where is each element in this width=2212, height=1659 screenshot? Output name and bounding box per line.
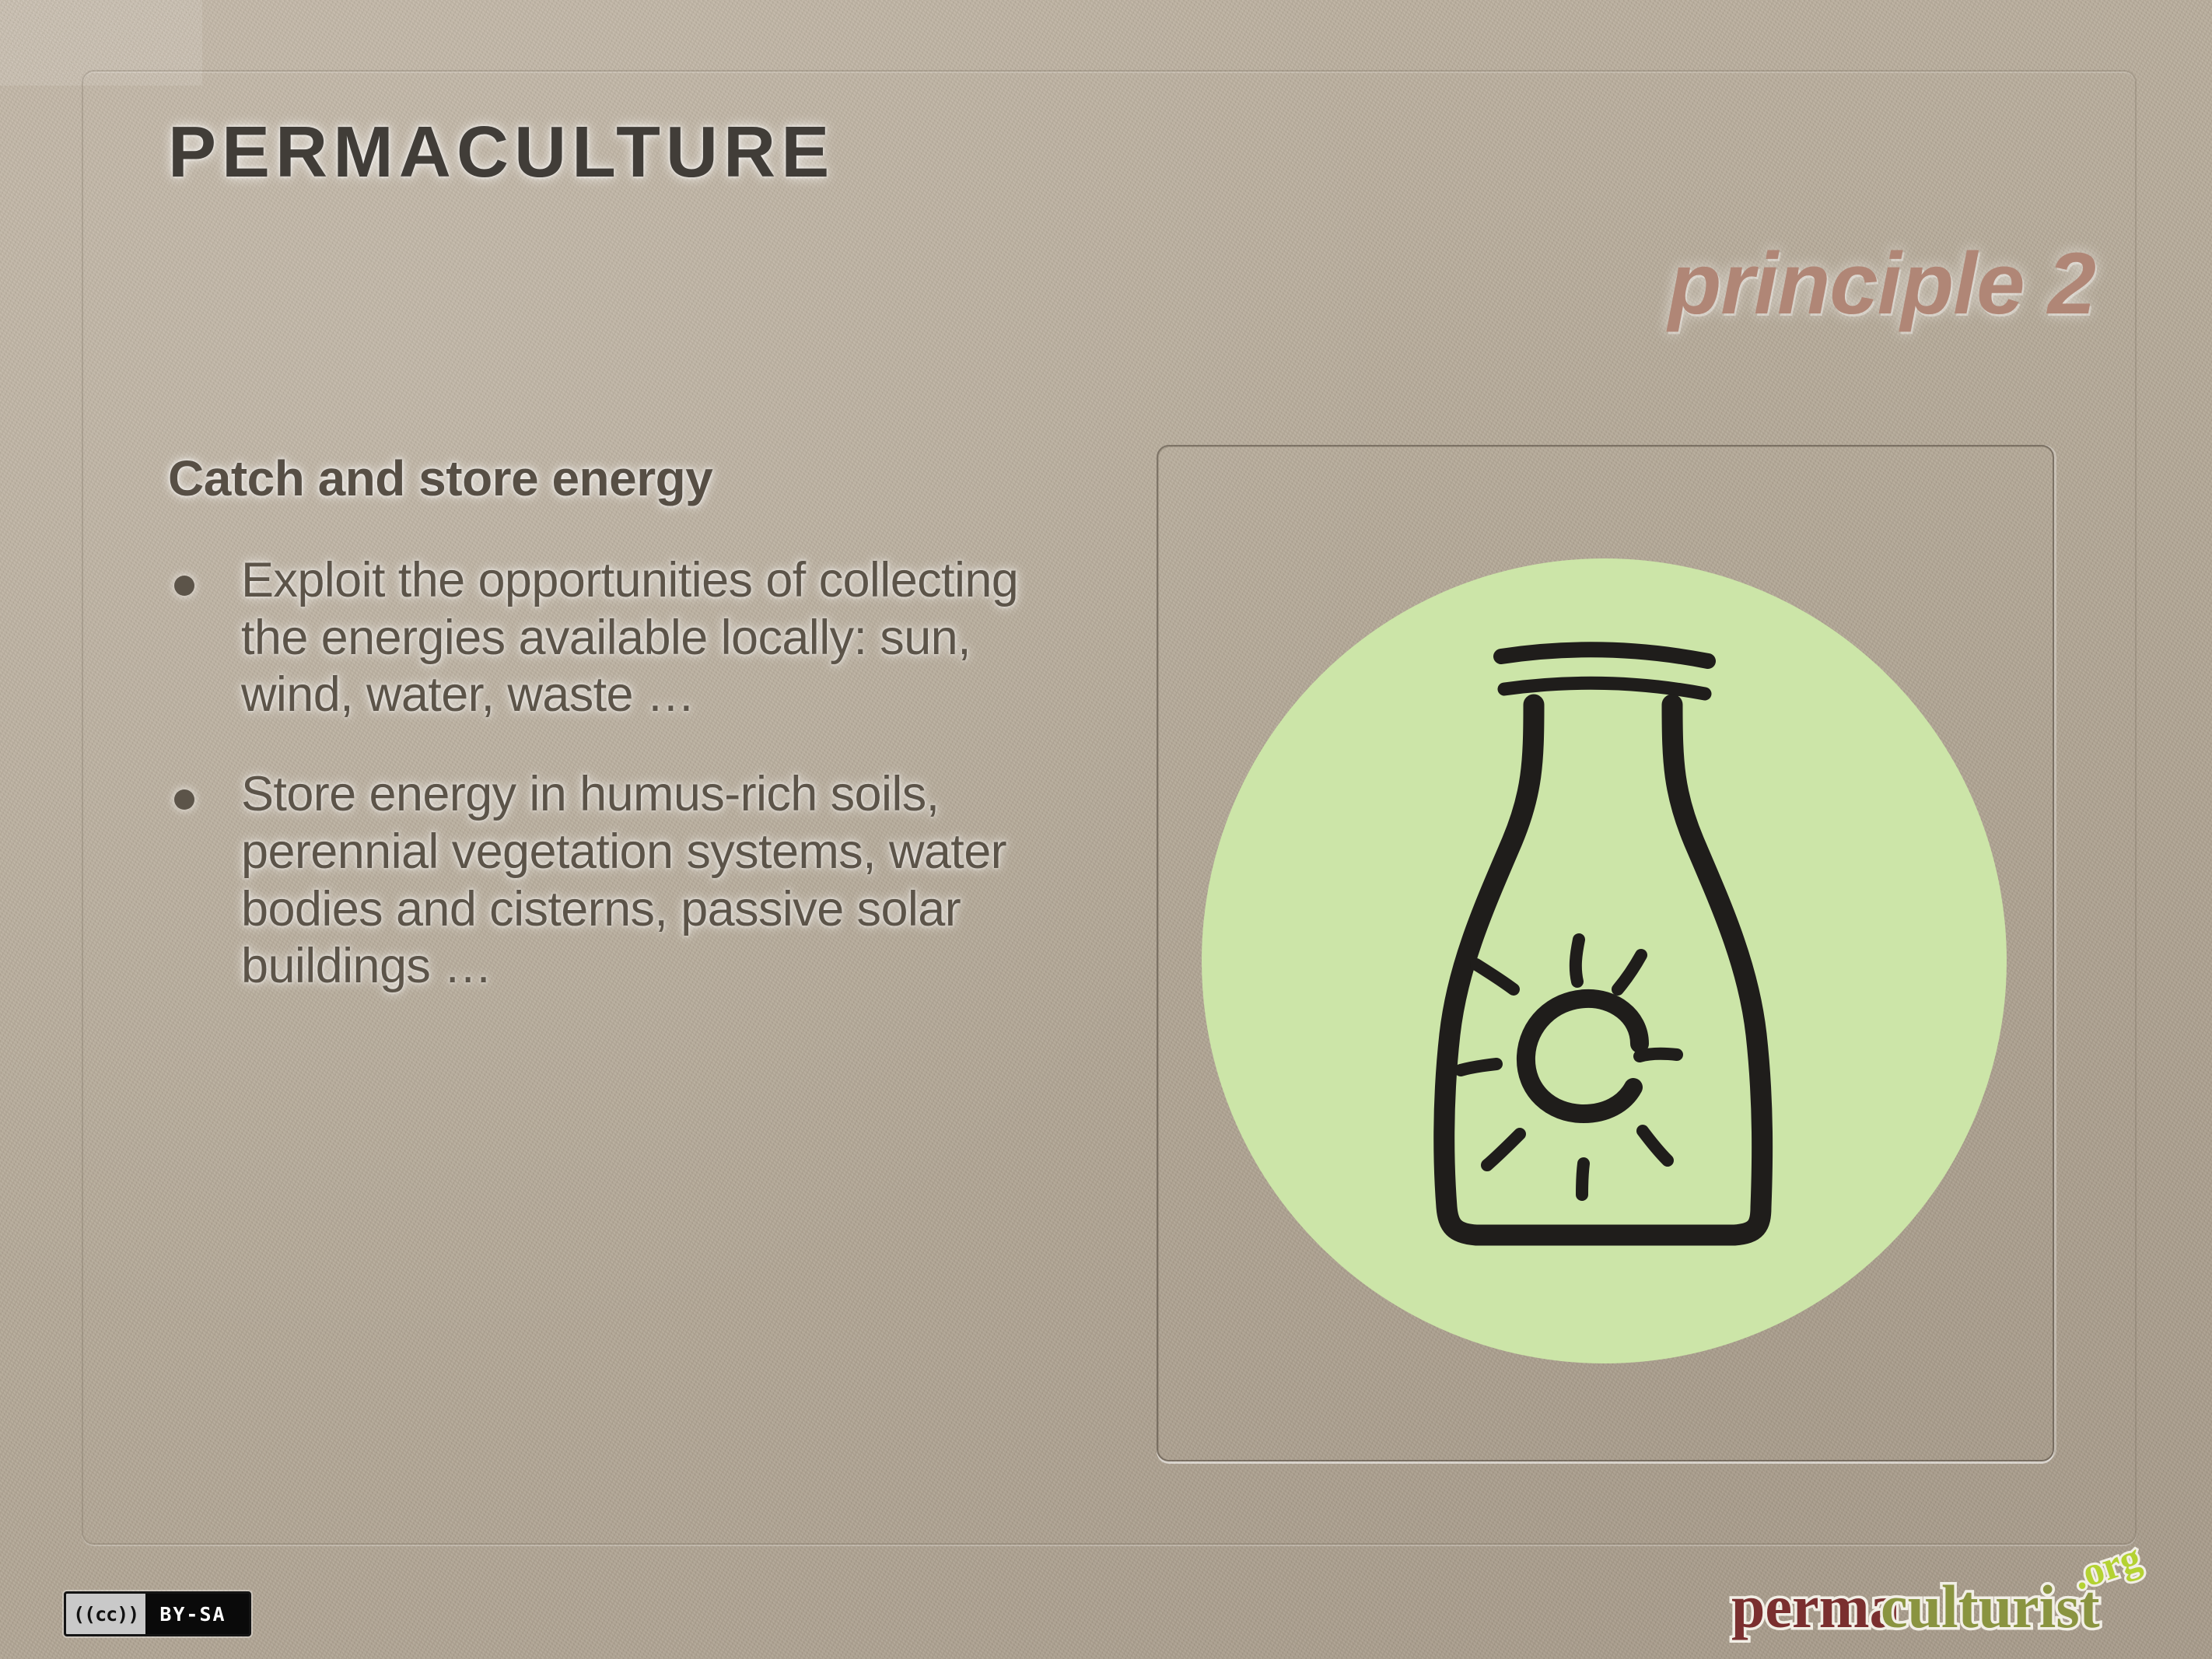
logo-text-org: .org: [2067, 1546, 2146, 1598]
list-item: Store energy in humus-rich soils, perenn…: [168, 766, 1086, 996]
cc-license-terms: BY-SA: [145, 1603, 226, 1626]
bullet-text: Exploit the opportunities of collecting …: [241, 552, 1086, 724]
page-title: PERMACULTURE: [168, 110, 835, 194]
slide-canvas: PERMACULTURE principle 2 Catch and store…: [0, 0, 2212, 1659]
bullet-dot-icon: [174, 576, 194, 596]
content-column: Catch and store energy Exploit the oppor…: [168, 450, 1086, 1038]
principle-number-label: principle 2: [1668, 233, 2095, 334]
permaculturist-org-logo[interactable]: perma culturist .org: [1727, 1546, 2178, 1647]
bottle-with-sun-icon: [1409, 630, 1798, 1276]
principle-subtitle: Catch and store energy: [168, 450, 1086, 507]
bullet-text: Store energy in humus-rich soils, perenn…: [241, 766, 1086, 996]
bullet-dot-icon: [174, 789, 194, 810]
logo-text-culturist: culturist: [1881, 1573, 2100, 1640]
paper-grain-texture: [0, 0, 202, 86]
logo-text-perma: perma: [1731, 1573, 1900, 1640]
list-item: Exploit the opportunities of collecting …: [168, 552, 1086, 724]
creative-commons-badge[interactable]: ((cc)) BY-SA: [64, 1591, 251, 1636]
cc-mark-icon: ((cc)): [66, 1594, 145, 1634]
